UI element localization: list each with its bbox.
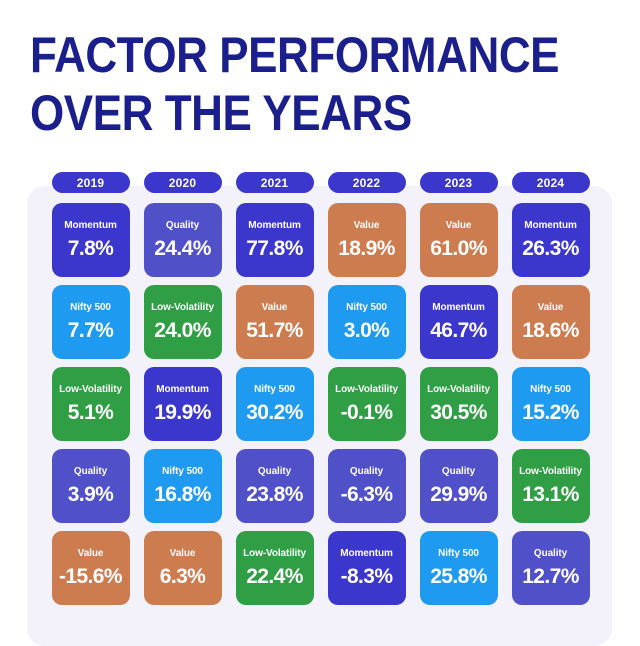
factor-card[interactable]: Nifty 50015.2% [512,367,590,441]
factor-card-value: 15.2% [522,402,579,424]
factor-card-value: 3.9% [68,484,113,506]
factor-card[interactable]: Momentum26.3% [512,203,590,277]
factor-card[interactable]: Quality-6.3% [328,449,406,523]
grid-cell: Nifty 5003.0% [321,285,412,359]
factor-card-label: Quality [534,548,567,560]
factor-card[interactable]: Nifty 5007.7% [52,285,130,359]
factor-card[interactable]: Low-Volatility22.4% [236,531,314,605]
year-pill-2019[interactable]: 2019 [52,172,130,193]
factor-card[interactable]: Value18.9% [328,203,406,277]
grid-cell: Low-Volatility5.1% [45,367,136,441]
factor-card-value: 6.3% [160,566,205,588]
factor-card-value: 3.0% [344,320,389,342]
grid-cell: Momentum77.8% [229,203,320,277]
grid-cell: Momentum19.9% [137,367,228,441]
year-pill-2021[interactable]: 2021 [236,172,314,193]
factor-card[interactable]: Quality23.8% [236,449,314,523]
year-pill-2023[interactable]: 2023 [420,172,498,193]
year-header-row: 201920202021202220232024 [27,172,612,193]
page-title: FACTOR PERFORMANCE OVER THE YEARS [30,26,610,142]
factor-card-label: Low-Volatility [335,384,398,396]
factor-card[interactable]: Low-Volatility13.1% [512,449,590,523]
factor-card[interactable]: Low-Volatility-0.1% [328,367,406,441]
factor-card-value: 29.9% [430,484,487,506]
rank-row-5: Value-15.6%Value6.3%Low-Volatility22.4%M… [27,531,612,605]
year-column: 2020 [137,172,228,193]
factor-card[interactable]: Value6.3% [144,531,222,605]
grid-cell: Nifty 50016.8% [137,449,228,523]
factor-card-label: Nifty 500 [254,384,295,396]
factor-card[interactable]: Value18.6% [512,285,590,359]
factor-card[interactable]: Quality24.4% [144,203,222,277]
factor-card-label: Value [262,302,288,314]
factor-card[interactable]: Momentum7.8% [52,203,130,277]
grid-cell: Value6.3% [137,531,228,605]
rank-row-4: Quality3.9%Nifty 50016.8%Quality23.8%Qua… [27,449,612,523]
factor-card-value: -8.3% [341,566,393,588]
factor-card-value: -6.3% [341,484,393,506]
factor-card-value: 30.5% [430,402,487,424]
factor-card-value: 16.8% [154,484,211,506]
factor-card[interactable]: Nifty 50030.2% [236,367,314,441]
factor-card-label: Momentum [248,220,301,232]
grid-cell: Quality23.8% [229,449,320,523]
factor-card-label: Quality [442,466,475,478]
factor-card-value: 18.9% [338,238,395,260]
grid-cell: Quality-6.3% [321,449,412,523]
factor-card-label: Nifty 500 [162,466,203,478]
factor-card-value: 26.3% [522,238,579,260]
grid-cell: Value61.0% [413,203,504,277]
year-pill-2022[interactable]: 2022 [328,172,406,193]
factor-card-value: 24.0% [154,320,211,342]
factor-card-value: 25.8% [430,566,487,588]
factor-card-label: Quality [74,466,107,478]
factor-card-value: 61.0% [430,238,487,260]
factor-card[interactable]: Low-Volatility30.5% [420,367,498,441]
factor-card[interactable]: Low-Volatility5.1% [52,367,130,441]
factor-card[interactable]: Quality3.9% [52,449,130,523]
factor-card-label: Momentum [524,220,577,232]
factor-card-value: 7.8% [68,238,113,260]
grid-cell: Low-Volatility-0.1% [321,367,412,441]
grid-cell: Low-Volatility24.0% [137,285,228,359]
year-column: 2019 [45,172,136,193]
factor-card-label: Quality [166,220,199,232]
factor-card-value: 30.2% [246,402,303,424]
year-pill-2024[interactable]: 2024 [512,172,590,193]
rank-row-3: Low-Volatility5.1%Momentum19.9%Nifty 500… [27,367,612,441]
factor-card-value: 23.8% [246,484,303,506]
grid-cell: Momentum26.3% [505,203,596,277]
factor-card[interactable]: Low-Volatility24.0% [144,285,222,359]
factor-card-label: Low-Volatility [151,302,214,314]
factor-card-label: Momentum [432,302,485,314]
factor-card-label: Momentum [340,548,393,560]
year-column: 2023 [413,172,504,193]
grid-cell: Quality24.4% [137,203,228,277]
factor-card[interactable]: Nifty 50025.8% [420,531,498,605]
grid-cell: Quality3.9% [45,449,136,523]
factor-card-label: Value [170,548,196,560]
page-title-line-2: OVER THE YEARS [30,84,540,142]
year-column: 2024 [505,172,596,193]
factor-card-value: 5.1% [68,402,113,424]
factor-card[interactable]: Value-15.6% [52,531,130,605]
page-title-line-1: FACTOR PERFORMANCE [30,26,540,84]
factor-card-label: Nifty 500 [70,302,111,314]
factor-card-value: 24.4% [154,238,211,260]
factor-card-label: Low-Volatility [59,384,122,396]
factor-card[interactable]: Quality29.9% [420,449,498,523]
grid-cell: Value-15.6% [45,531,136,605]
factor-card-label: Low-Volatility [427,384,490,396]
factor-card[interactable]: Momentum77.8% [236,203,314,277]
grid-cell: Quality12.7% [505,531,596,605]
factor-card-label: Nifty 500 [530,384,571,396]
grid-cell: Momentum46.7% [413,285,504,359]
factor-card-value: 12.7% [522,566,579,588]
grid-cell: Nifty 50015.2% [505,367,596,441]
grid-cell: Low-Volatility13.1% [505,449,596,523]
factor-card-label: Momentum [156,384,209,396]
factor-card-value: 77.8% [246,238,303,260]
factor-card-value: -15.6% [59,566,122,588]
factor-card-value: 46.7% [430,320,487,342]
grid-cell: Momentum7.8% [45,203,136,277]
factor-card-value: -0.1% [341,402,393,424]
factor-card-value: 18.6% [522,320,579,342]
factor-card-value: 22.4% [246,566,303,588]
rank-row-2: Nifty 5007.7%Low-Volatility24.0%Value51.… [27,285,612,359]
grid-cell: Low-Volatility22.4% [229,531,320,605]
grid-cell: Value18.9% [321,203,412,277]
factor-performance-grid: 201920202021202220232024 Momentum7.8%Qua… [27,172,612,613]
factor-card-value: 19.9% [154,402,211,424]
grid-cell: Momentum-8.3% [321,531,412,605]
factor-card-label: Nifty 500 [438,548,479,560]
grid-cell: Value51.7% [229,285,320,359]
grid-cell: Nifty 50025.8% [413,531,504,605]
factor-card-label: Value [78,548,104,560]
factor-card[interactable]: Quality12.7% [512,531,590,605]
year-pill-2020[interactable]: 2020 [144,172,222,193]
grid-cell: Nifty 50030.2% [229,367,320,441]
factor-card-label: Nifty 500 [346,302,387,314]
factor-card-value: 51.7% [246,320,303,342]
factor-card[interactable]: Momentum46.7% [420,285,498,359]
grid-cell: Low-Volatility30.5% [413,367,504,441]
factor-card[interactable]: Value51.7% [236,285,314,359]
factor-card[interactable]: Value61.0% [420,203,498,277]
rank-row-1: Momentum7.8%Quality24.4%Momentum77.8%Val… [27,203,612,277]
grid-cell: Nifty 5007.7% [45,285,136,359]
factor-card-label: Momentum [64,220,117,232]
year-column: 2021 [229,172,320,193]
factor-card[interactable]: Nifty 50016.8% [144,449,222,523]
factor-card-label: Low-Volatility [519,466,582,478]
grid-cell: Quality29.9% [413,449,504,523]
factor-card-label: Value [538,302,564,314]
factor-card-label: Value [354,220,380,232]
factor-card[interactable]: Momentum-8.3% [328,531,406,605]
factor-card-value: 7.7% [68,320,113,342]
factor-card-label: Quality [350,466,383,478]
year-column: 2022 [321,172,412,193]
factor-card[interactable]: Nifty 5003.0% [328,285,406,359]
factor-card-value: 13.1% [522,484,579,506]
factor-card-label: Quality [258,466,291,478]
factor-card-label: Low-Volatility [243,548,306,560]
grid-cell: Value18.6% [505,285,596,359]
factor-card-label: Value [446,220,472,232]
factor-card[interactable]: Momentum19.9% [144,367,222,441]
